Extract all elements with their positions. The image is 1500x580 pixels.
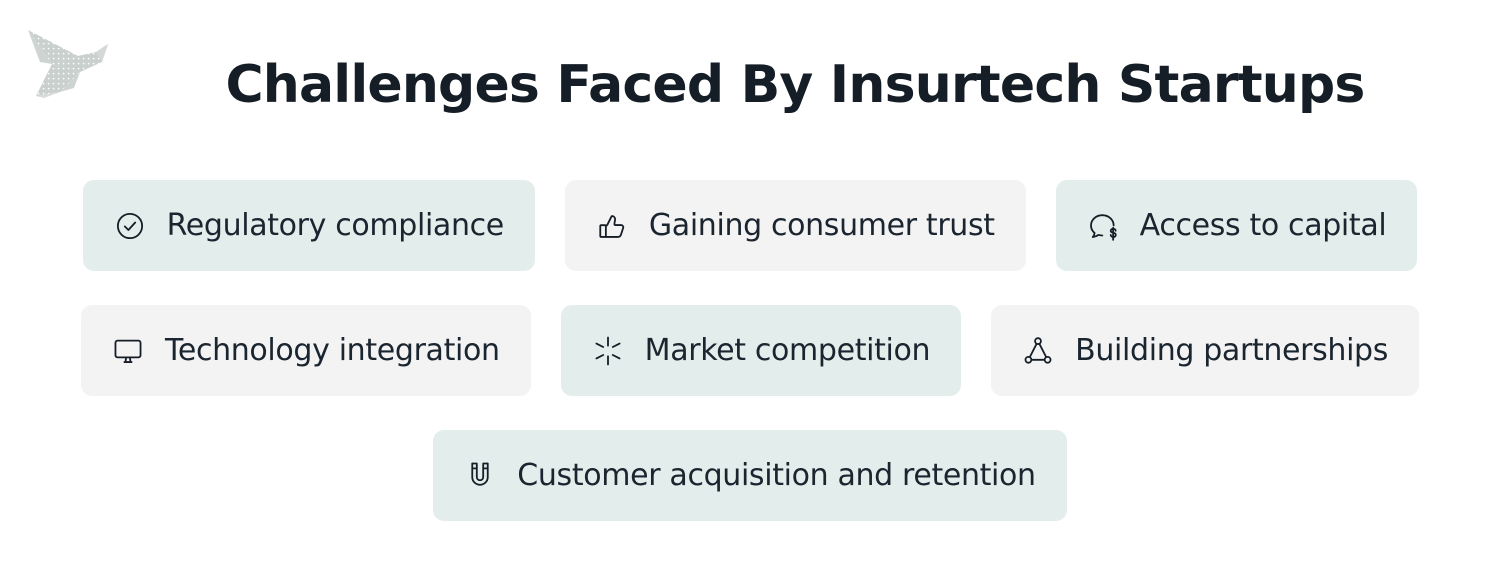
pill-row-3: Customer acquisition and retention <box>0 430 1500 521</box>
thumbs-up-icon <box>596 210 628 242</box>
challenge-pill-label: Market competition <box>645 336 931 366</box>
challenge-pill[interactable]: Access to capital <box>1056 180 1418 271</box>
challenge-pill-label: Gaining consumer trust <box>649 211 995 241</box>
pill-row-2: Technology integrationMarket competition… <box>0 305 1500 396</box>
challenge-pill[interactable]: Regulatory compliance <box>83 180 535 271</box>
challenge-pill[interactable]: Building partnerships <box>991 305 1419 396</box>
challenge-pill-label: Customer acquisition and retention <box>517 461 1035 491</box>
monitor-icon <box>112 335 144 367</box>
challenge-pill[interactable]: Market competition <box>561 305 962 396</box>
network-nodes-icon <box>1022 335 1054 367</box>
challenge-pill[interactable]: Technology integration <box>81 305 531 396</box>
magnet-icon <box>464 460 496 492</box>
page-title: Challenges Faced By Insurtech Startups <box>0 57 1500 114</box>
check-circle-icon <box>114 210 146 242</box>
challenge-pill-label: Access to capital <box>1140 211 1387 241</box>
burst-flare-icon <box>592 335 624 367</box>
challenge-pill[interactable]: Customer acquisition and retention <box>433 430 1066 521</box>
challenge-pill-label: Building partnerships <box>1075 336 1388 366</box>
challenge-pill[interactable]: Gaining consumer trust <box>565 180 1026 271</box>
pill-row-1: Regulatory complianceGaining consumer tr… <box>0 180 1500 271</box>
challenge-pill-label: Regulatory compliance <box>167 211 504 241</box>
chat-bubble-dollar-icon <box>1087 210 1119 242</box>
challenge-pill-label: Technology integration <box>165 336 500 366</box>
infographic-canvas: Challenges Faced By Insurtech Startups R… <box>0 0 1500 580</box>
